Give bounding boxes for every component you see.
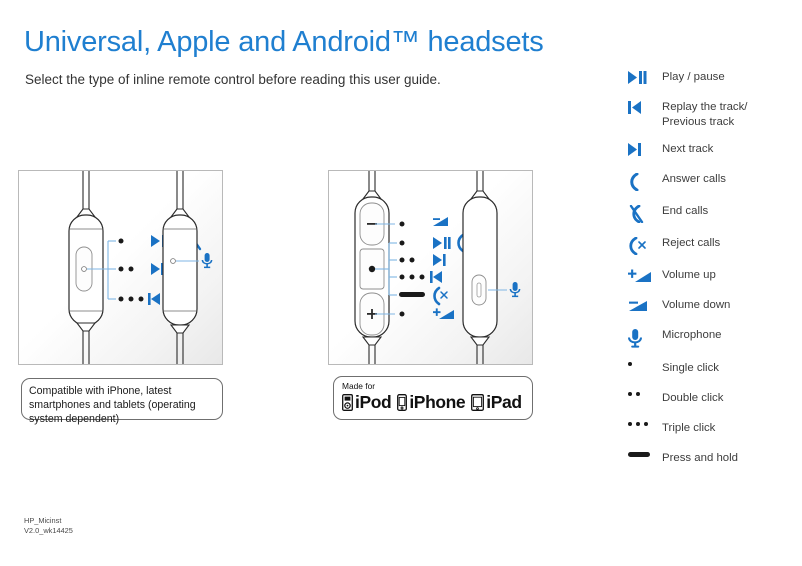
legend-label: Play / pause — [662, 70, 725, 85]
legend-item-volume-down: Volume down — [628, 298, 796, 315]
legend-label: Single click — [662, 361, 719, 376]
ipod-label: iPod — [355, 392, 391, 413]
diagram-panel-universal — [18, 170, 223, 365]
ipad-label: iPad — [486, 392, 521, 413]
legend-item-press-and-hold: Press and hold — [628, 451, 796, 468]
triple-click-icon — [628, 421, 662, 426]
legend-label: Next track — [662, 142, 713, 157]
ipod-glyph-icon — [342, 394, 353, 411]
legend-item-microphone: Microphone — [628, 328, 796, 348]
legend-item-single-click: Single click — [628, 361, 796, 378]
legend-item-reject-calls: Reject calls — [628, 236, 796, 255]
caption-universal-text: Compatible with iPhone, latest smartphon… — [29, 384, 215, 426]
legend-label: Reject calls — [662, 236, 720, 251]
next-track-icon — [628, 142, 662, 156]
microphone-icon — [628, 328, 662, 348]
legend-label: Answer calls — [662, 172, 726, 187]
legend-item-next-track: Next track — [628, 142, 796, 159]
reject-call-icon — [628, 236, 662, 255]
answer-call-icon — [628, 172, 662, 191]
volume-down-icon — [628, 298, 662, 313]
universal-remote-illustration — [19, 171, 222, 364]
legend-item-volume-up: Volume up — [628, 268, 796, 285]
legend-label: Volume up — [662, 268, 716, 283]
legend-list: Play / pause Replay the track/ Previous … — [628, 70, 796, 481]
legend-item-answer-calls: Answer calls — [628, 172, 796, 191]
legend-label: Microphone — [662, 328, 722, 343]
volume-up-icon — [628, 268, 662, 283]
single-click-icon — [628, 361, 662, 366]
iphone-glyph-icon — [397, 394, 407, 411]
legend-item-end-calls: End calls — [628, 204, 796, 223]
double-click-icon — [628, 391, 662, 396]
iphone-label: iPhone — [409, 392, 465, 413]
apple-remote-illustration — [329, 171, 532, 364]
caption-universal: Compatible with iPhone, latest smartphon… — [21, 378, 223, 420]
legend-item-double-click: Double click — [628, 391, 796, 408]
press-hold-icon — [628, 451, 662, 457]
legend-label: Double click — [662, 391, 723, 406]
legend-label: Press and hold — [662, 451, 738, 466]
previous-track-icon — [628, 100, 662, 114]
made-for-label: Made for — [342, 381, 524, 391]
ipad-glyph-icon — [471, 394, 484, 411]
footer-line-2: V2.0_wk14425 — [24, 526, 73, 536]
end-call-icon — [628, 204, 662, 223]
footer-line-1: HP_Micinst — [24, 516, 73, 526]
page-title: Universal, Apple and Android™ headsets — [24, 26, 544, 59]
made-for-devices: iPod iPhone iPad — [342, 392, 524, 413]
legend-label: Volume down — [662, 298, 730, 313]
legend-label: Replay the track/ Previous track — [662, 100, 747, 129]
play-pause-icon — [628, 70, 662, 84]
page-subtitle: Select the type of inline remote control… — [25, 72, 441, 87]
legend-item-triple-click: Triple click — [628, 421, 796, 438]
legend-item-previous-track: Replay the track/ Previous track — [628, 100, 796, 129]
legend-label: End calls — [662, 204, 708, 219]
legend-item-play-pause: Play / pause — [628, 70, 796, 87]
diagram-panel-apple — [328, 170, 533, 365]
footer-document-code: HP_Micinst V2.0_wk14425 — [24, 516, 73, 535]
legend-label: Triple click — [662, 421, 715, 436]
caption-apple-made-for: Made for iPod iPhone iPad — [333, 376, 533, 420]
